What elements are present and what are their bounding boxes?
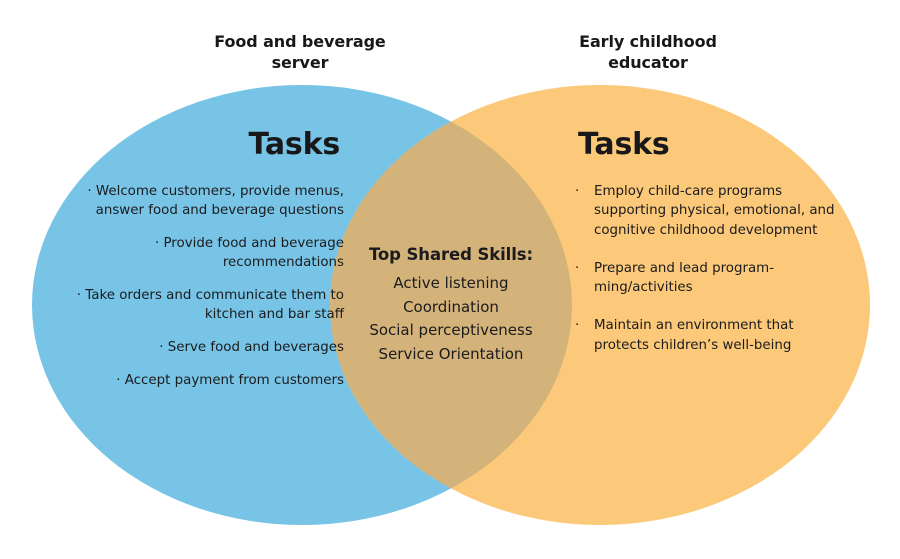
bullet-icon: · [575,182,579,201]
venn-diagram-canvas: Food and beverage server Early childhood… [0,0,900,559]
right-task-item: · Maintain an environment that protects … [572,316,840,355]
left-tasks-heading: Tasks [120,127,340,162]
shared-skills-block: Top Shared Skills: Active listening Coor… [332,245,570,367]
shared-skill-item: Social perceptiveness [332,319,570,343]
left-task-item: · Take orders and communicate them to ki… [56,286,344,324]
right-circle-title-line2: educator [520,52,776,73]
right-task-item-text: Employ child-care programs supporting ph… [594,184,835,238]
shared-skill-item: Service Orientation [332,343,570,367]
left-circle-title-line2: server [172,52,428,73]
left-task-item: · Provide food and beverage recommendati… [56,234,344,272]
right-tasks-heading: Tasks [578,127,798,162]
right-task-item-text: Prepare and lead program-ming/activities [594,261,774,295]
right-task-item-text: Maintain an environment that protects ch… [594,318,794,352]
left-task-item: · Welcome customers, provide menus, answ… [56,182,344,220]
left-circle-title-line1: Food and beverage [172,31,428,52]
left-task-list: · Welcome customers, provide menus, answ… [56,182,344,390]
left-task-item: · Accept payment from customers [56,371,344,390]
right-task-item: · Prepare and lead program-ming/activiti… [572,259,840,298]
right-circle-title: Early childhood educator [520,31,776,74]
left-task-item: · Serve food and beverages [56,338,344,357]
shared-skills-heading: Top Shared Skills: [332,245,570,264]
right-task-list: · Employ child-care programs supporting … [572,182,840,355]
bullet-icon: · [575,316,579,335]
right-task-item: · Employ child-care programs supporting … [572,182,840,240]
bullet-icon: · [575,259,579,278]
right-circle-title-line1: Early childhood [520,31,776,52]
shared-skill-item: Active listening [332,272,570,296]
shared-skill-item: Coordination [332,296,570,320]
left-circle-title: Food and beverage server [172,31,428,74]
